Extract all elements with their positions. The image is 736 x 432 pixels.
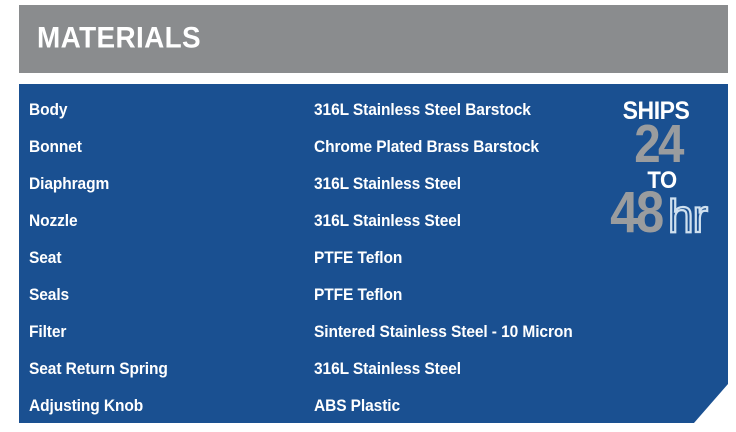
table-row: Adjusting Knob ABS Plastic: [19, 388, 728, 425]
material-value: 316L Stainless Steel: [314, 212, 703, 231]
table-row: Diaphragm 316L Stainless Steel: [19, 166, 728, 203]
component-label: Seals: [29, 286, 297, 305]
table-row: Body 316L Stainless Steel Barstock: [19, 92, 728, 129]
table-row: Nozzle 316L Stainless Steel: [19, 203, 728, 240]
table-row: Seat PTFE Teflon: [19, 240, 728, 277]
component-label: Body: [29, 101, 297, 120]
material-value: 316L Stainless Steel Barstock: [314, 101, 703, 120]
component-label: Bonnet: [29, 138, 297, 157]
component-label: Diaphragm: [29, 175, 297, 194]
component-label: Seat Return Spring: [29, 360, 297, 379]
component-label: Adjusting Knob: [29, 397, 297, 416]
table-row: Seat Return Spring 316L Stainless Steel: [19, 351, 728, 388]
component-label: Seat: [29, 249, 297, 268]
materials-spec-sheet: MATERIALS Body 316L Stainless Steel Bars…: [0, 0, 736, 432]
material-value: Sintered Stainless Steel - 10 Micron: [314, 323, 703, 342]
material-value: 316L Stainless Steel: [314, 360, 703, 379]
materials-panel: Body 316L Stainless Steel Barstock Bonne…: [19, 84, 728, 423]
table-row: Filter Sintered Stainless Steel - 10 Mic…: [19, 314, 728, 351]
material-value: ABS Plastic: [314, 397, 703, 416]
materials-table: Body 316L Stainless Steel Barstock Bonne…: [19, 84, 728, 425]
header-bar: MATERIALS: [19, 5, 728, 73]
material-value: PTFE Teflon: [314, 249, 703, 268]
table-row: Seals PTFE Teflon: [19, 277, 728, 314]
component-label: Nozzle: [29, 212, 297, 231]
table-row: Bonnet Chrome Plated Brass Barstock: [19, 129, 728, 166]
material-value: Chrome Plated Brass Barstock: [314, 138, 703, 157]
page-title: MATERIALS: [37, 23, 201, 53]
material-value: PTFE Teflon: [314, 286, 703, 305]
material-value: 316L Stainless Steel: [314, 175, 703, 194]
component-label: Filter: [29, 323, 297, 342]
